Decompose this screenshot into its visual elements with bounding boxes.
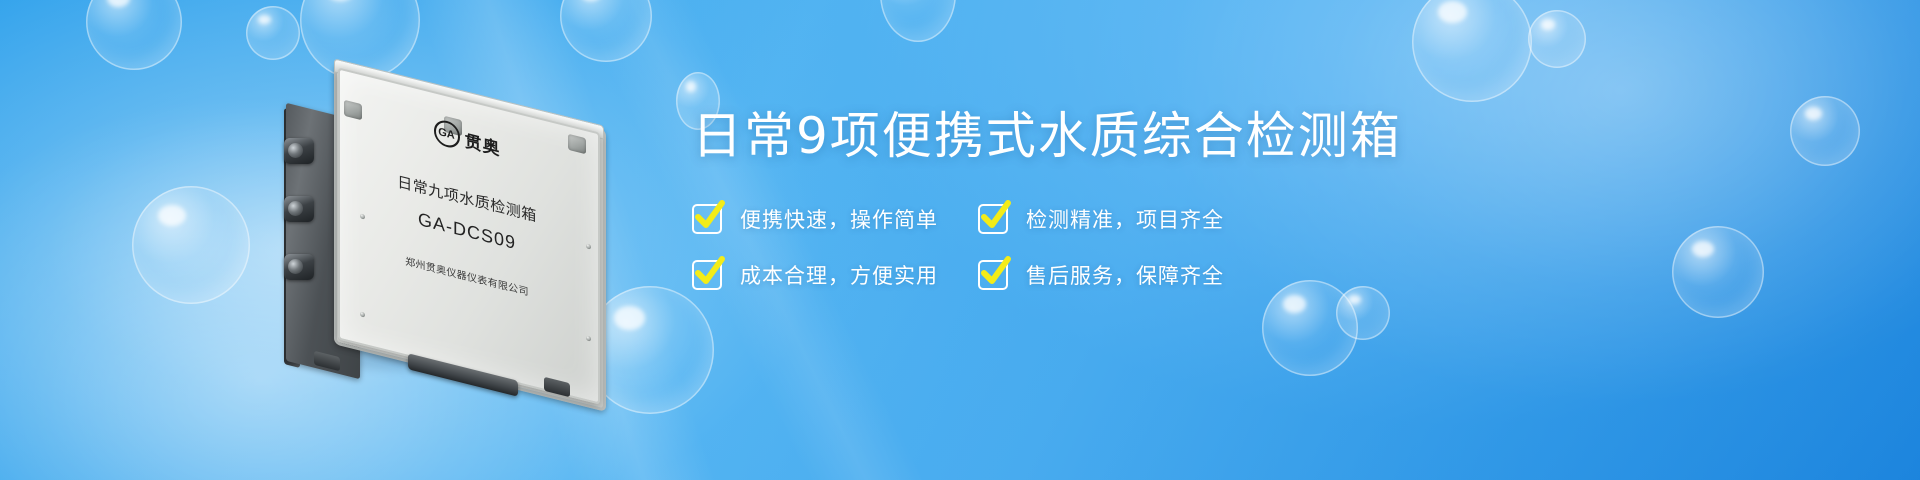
product-image: GA 贯奥 日常九项水质检测箱 GA-DCS09 郑州贯奥仪器仪表有限公司 [268, 84, 628, 384]
case-latch-icon [284, 138, 314, 164]
marketing-copy: 日常9项便携式水质综合检测箱 便携快速，操作简单 检测精准，项目齐全 [692, 108, 1842, 290]
feature-label: 检测精准，项目齐全 [1026, 204, 1224, 234]
ga-logo-mark: GA [434, 118, 460, 150]
bubble-icon [246, 6, 300, 60]
checkbox-checked-icon [692, 204, 722, 234]
feature-label: 售后服务，保障齐全 [1026, 260, 1224, 290]
feature-item: 成本合理，方便实用 [692, 260, 978, 290]
case-screw-icon [586, 335, 591, 341]
feature-item: 售后服务，保障齐全 [978, 260, 1264, 290]
bubble-icon [132, 186, 250, 304]
case-screw-icon [586, 243, 591, 249]
checkbox-checked-icon [692, 260, 722, 290]
feature-item: 便携快速，操作简单 [692, 204, 978, 234]
page-title: 日常9项便携式水质综合检测箱 [692, 108, 1842, 166]
bubble-icon [1528, 10, 1586, 68]
bubble-icon [1412, 0, 1532, 102]
bubble-icon [880, 0, 956, 42]
bubble-icon [560, 0, 652, 62]
brand-name-cn: 贯奥 [465, 126, 501, 160]
feature-label: 便携快速，操作简单 [740, 204, 938, 234]
product-banner: GA 贯奥 日常九项水质检测箱 GA-DCS09 郑州贯奥仪器仪表有限公司 日常… [0, 0, 1920, 480]
checkbox-checked-icon [978, 260, 1008, 290]
case-latch-icon [284, 196, 314, 222]
bubble-icon [86, 0, 182, 70]
feature-list: 便携快速，操作简单 检测精准，项目齐全 成本合理，方便实用 [692, 204, 1842, 290]
case-latch-icon [284, 254, 314, 280]
checkbox-checked-icon [978, 204, 1008, 234]
bubble-icon [1336, 286, 1390, 340]
bubble-icon [1262, 280, 1358, 376]
feature-label: 成本合理，方便实用 [740, 260, 938, 290]
feature-item: 检测精准，项目齐全 [978, 204, 1264, 234]
